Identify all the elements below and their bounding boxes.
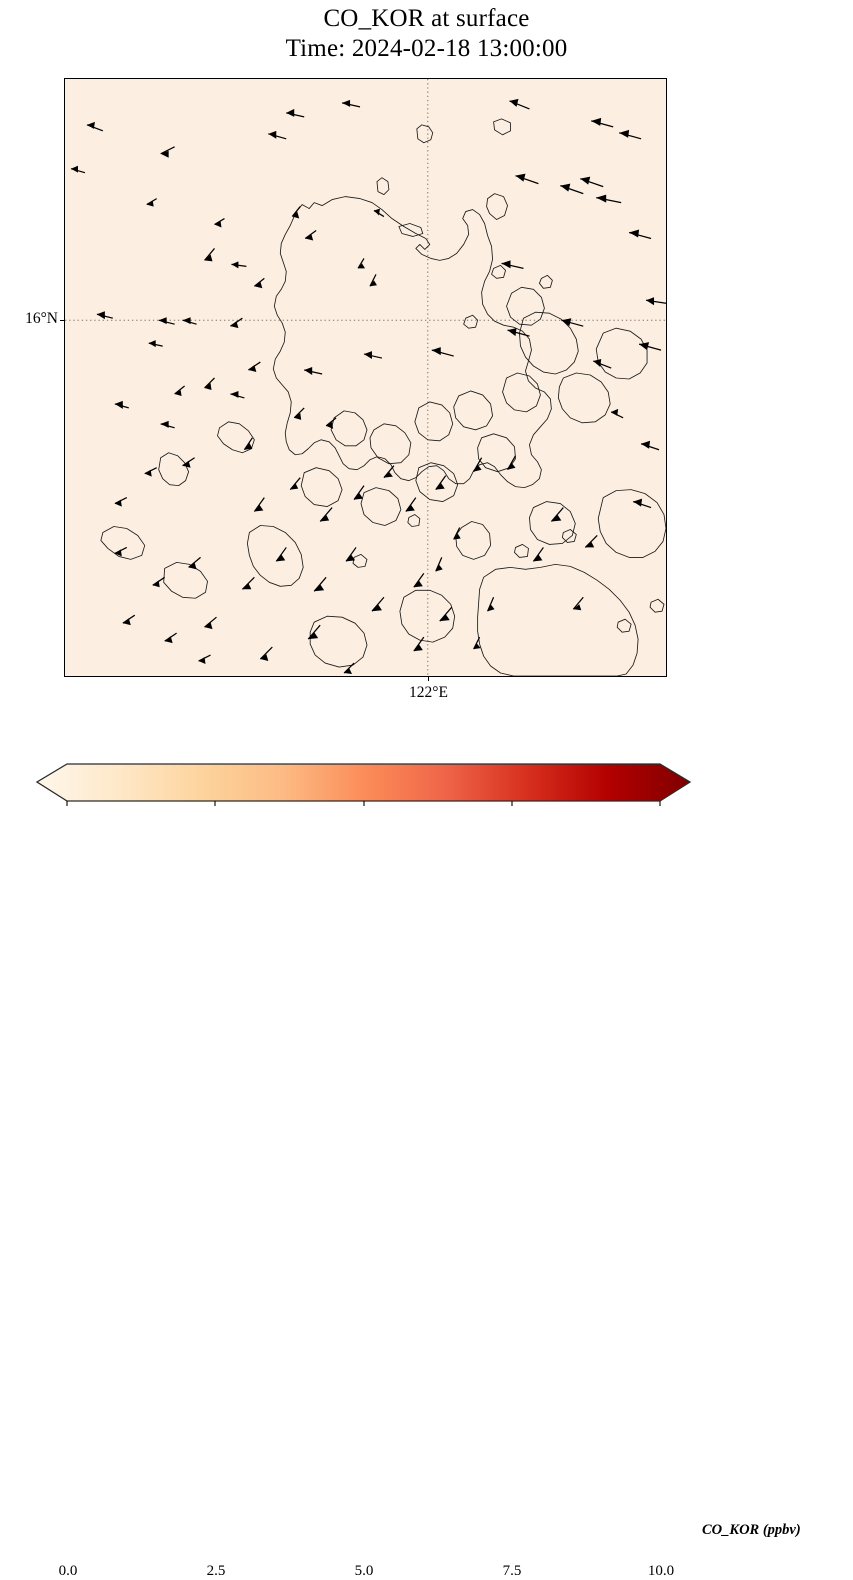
colorbar-tick-label-2: 5.0 — [355, 1563, 374, 1580]
xtick-label-122e: 122°E — [0, 684, 853, 702]
figure-canvas: CO_KOR at surface Time: 2024-02-18 13:00… — [0, 0, 853, 839]
coastline-visayas — [301, 287, 544, 525]
colorbar-label: CO_KOR (ppbv) — [702, 1522, 801, 1539]
coastline-mindanao — [310, 490, 666, 676]
colorbar-tick-marks — [67, 801, 660, 806]
ytick-label-16n: 16°N — [0, 310, 58, 328]
colorbar[interactable]: 0.0 2.5 5.0 7.5 10.0 CO_KOR (ppbv) — [0, 757, 853, 839]
xtick-label-122e-text: 122°E — [409, 684, 448, 701]
colorbar-tick-label-4: 10.0 — [648, 1563, 674, 1580]
colorbar-tick-label-3: 7.5 — [503, 1563, 522, 1580]
figure-subtitle-time: Time: 2024-02-18 13:00:00 — [0, 34, 853, 64]
wind-quiver-layer — [71, 99, 666, 674]
ytick-mark-16n — [60, 320, 64, 321]
map-svg — [65, 79, 666, 676]
colorbar-svg — [0, 757, 853, 839]
map-plot-area[interactable] — [64, 78, 667, 677]
figure-title-block: CO_KOR at surface Time: 2024-02-18 13:00… — [0, 4, 853, 63]
coastline-luzon — [273, 197, 551, 488]
colorbar-gradient-bar — [37, 764, 690, 801]
colorbar-tick-label-1: 2.5 — [207, 1563, 226, 1580]
coastline-batanes-islands — [377, 119, 511, 237]
page-title: CO_KOR at surface — [0, 4, 853, 34]
colorbar-tick-label-0: 0.0 — [59, 1563, 78, 1580]
coastline-islets — [353, 265, 664, 632]
coastline-samar-leyte — [503, 312, 648, 423]
coastline-mindoro-palawan — [101, 422, 303, 598]
xtick-mark-122e — [428, 677, 429, 681]
